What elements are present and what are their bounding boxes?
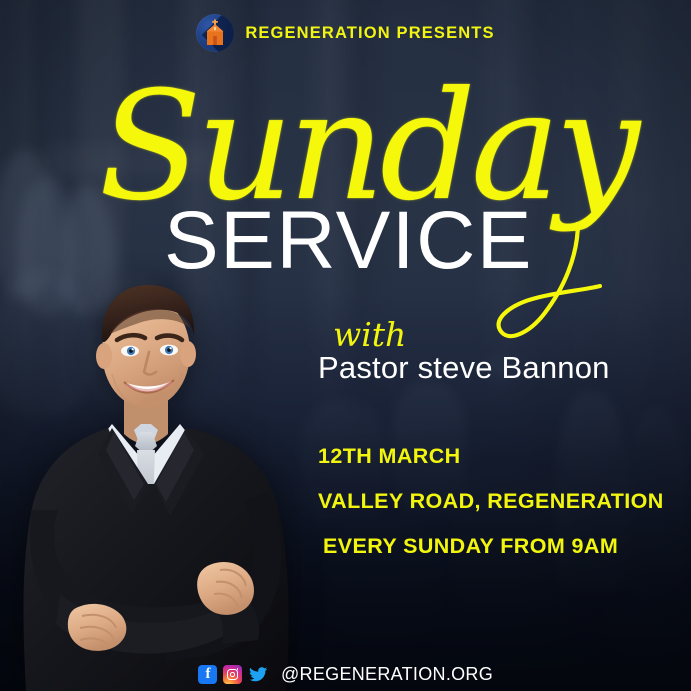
instagram-icon[interactable]	[223, 665, 242, 684]
facebook-icon[interactable]: f	[198, 665, 217, 684]
pastor-portrait	[16, 278, 316, 691]
detail-date: 12TH MARCH	[318, 444, 664, 469]
detail-location: VALLEY ROAD, REGENERATION	[318, 489, 664, 514]
detail-schedule: EVERY SUNDAY FROM 9AM	[318, 534, 664, 559]
church-building-icon	[196, 14, 234, 52]
event-details: 12TH MARCH VALLEY ROAD, REGENERATION EVE…	[318, 444, 664, 559]
main-title: Sunday SERVICE	[0, 72, 691, 282]
social-handle[interactable]: @REGENERATION.ORG	[281, 664, 493, 685]
footer: f @REGENERATION.ORG	[0, 664, 691, 685]
sunday-service-flyer: REGENERATION PRESENTS Sunday SERVICE	[0, 0, 691, 691]
twitter-icon[interactable]	[248, 665, 269, 684]
title-script-word: Sunday	[99, 72, 635, 222]
speaker-prefix: with	[333, 318, 406, 351]
speaker-name: Pastor steve Bannon	[318, 350, 610, 386]
title-script-descender-flourish	[492, 222, 602, 352]
header: REGENERATION PRESENTS	[0, 14, 691, 52]
header-title: REGENERATION PRESENTS	[245, 24, 494, 43]
